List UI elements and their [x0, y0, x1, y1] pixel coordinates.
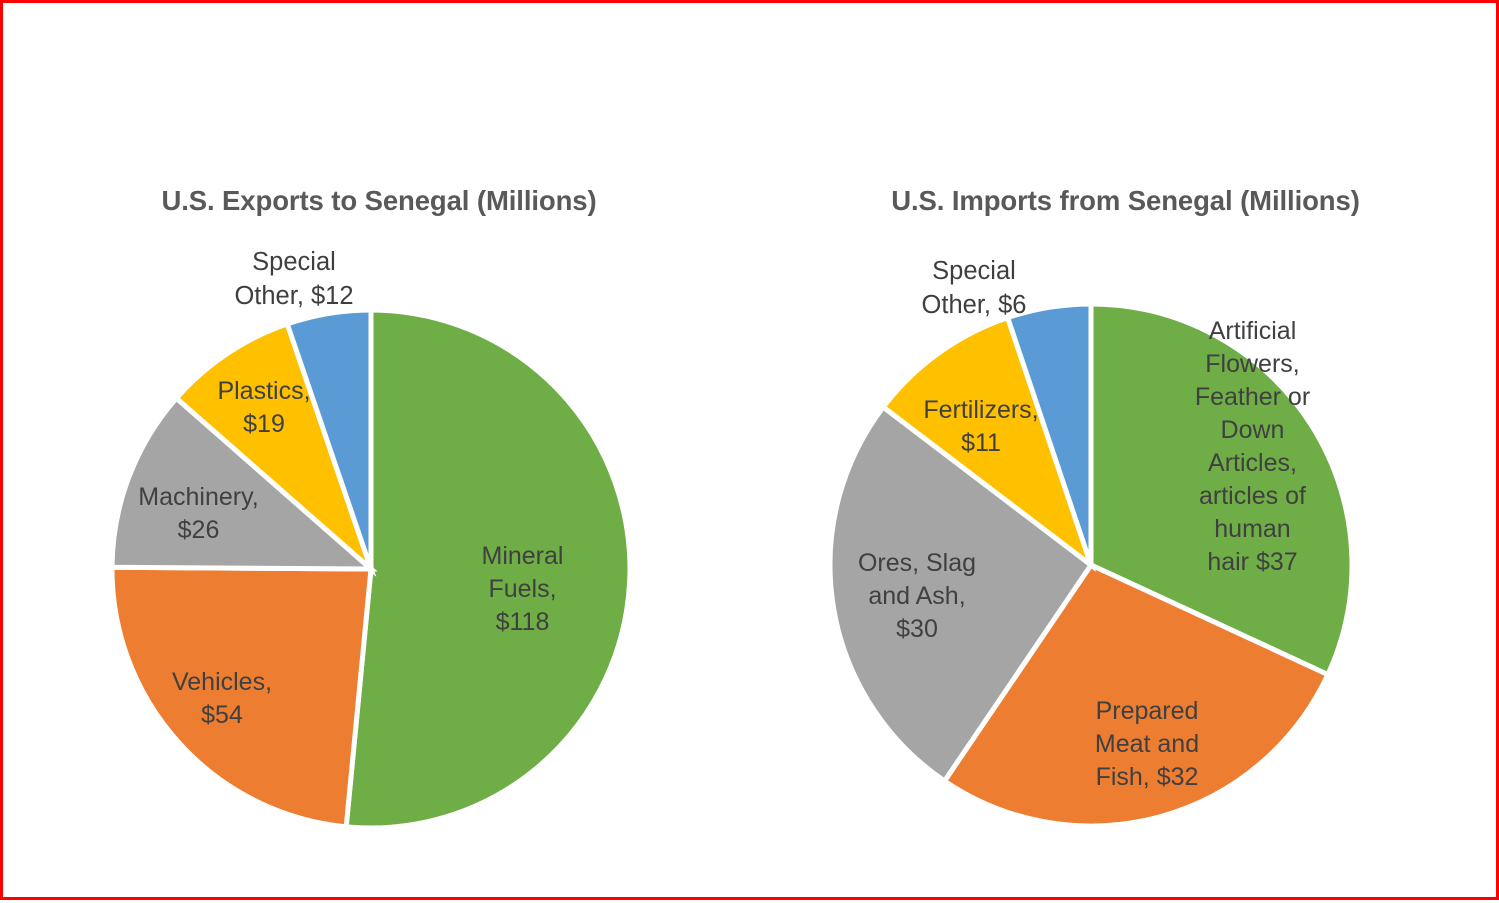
exports-label-mineral-fuels: Mineral Fuels, $118	[434, 540, 611, 639]
exports-label-plastics: Plastics, $19	[184, 375, 344, 441]
exports-pie-chart: U.S. Exports to Senegal (Millions) Miner…	[6, 3, 752, 903]
exports-label-vehicles: Vehicles, $54	[136, 666, 308, 732]
imports-label-prepared-meat-fish: Prepared Meat and Fish, $32	[1067, 695, 1227, 794]
exports-pie-graphic: Mineral Fuels, $118Vehicles, $54Machiner…	[6, 3, 752, 903]
imports-label-fertilizers: Fertilizers, $11	[900, 394, 1062, 460]
exports-label-special-other: Special Other, $12	[194, 246, 394, 314]
exports-label-machinery: Machinery, $26	[111, 481, 286, 547]
imports-label-special-other: Special Other, $6	[874, 255, 1074, 323]
imports-label-artificial-flowers: Artificial Flowers, Feather or Down Arti…	[1165, 315, 1340, 579]
slide-canvas: U.S. Exports to Senegal (Millions) Miner…	[0, 0, 1499, 900]
imports-label-ores-slag-ash: Ores, Slag and Ash, $30	[832, 547, 1002, 646]
imports-pie-chart: U.S. Imports from Senegal (Millions) Art…	[752, 3, 1499, 903]
